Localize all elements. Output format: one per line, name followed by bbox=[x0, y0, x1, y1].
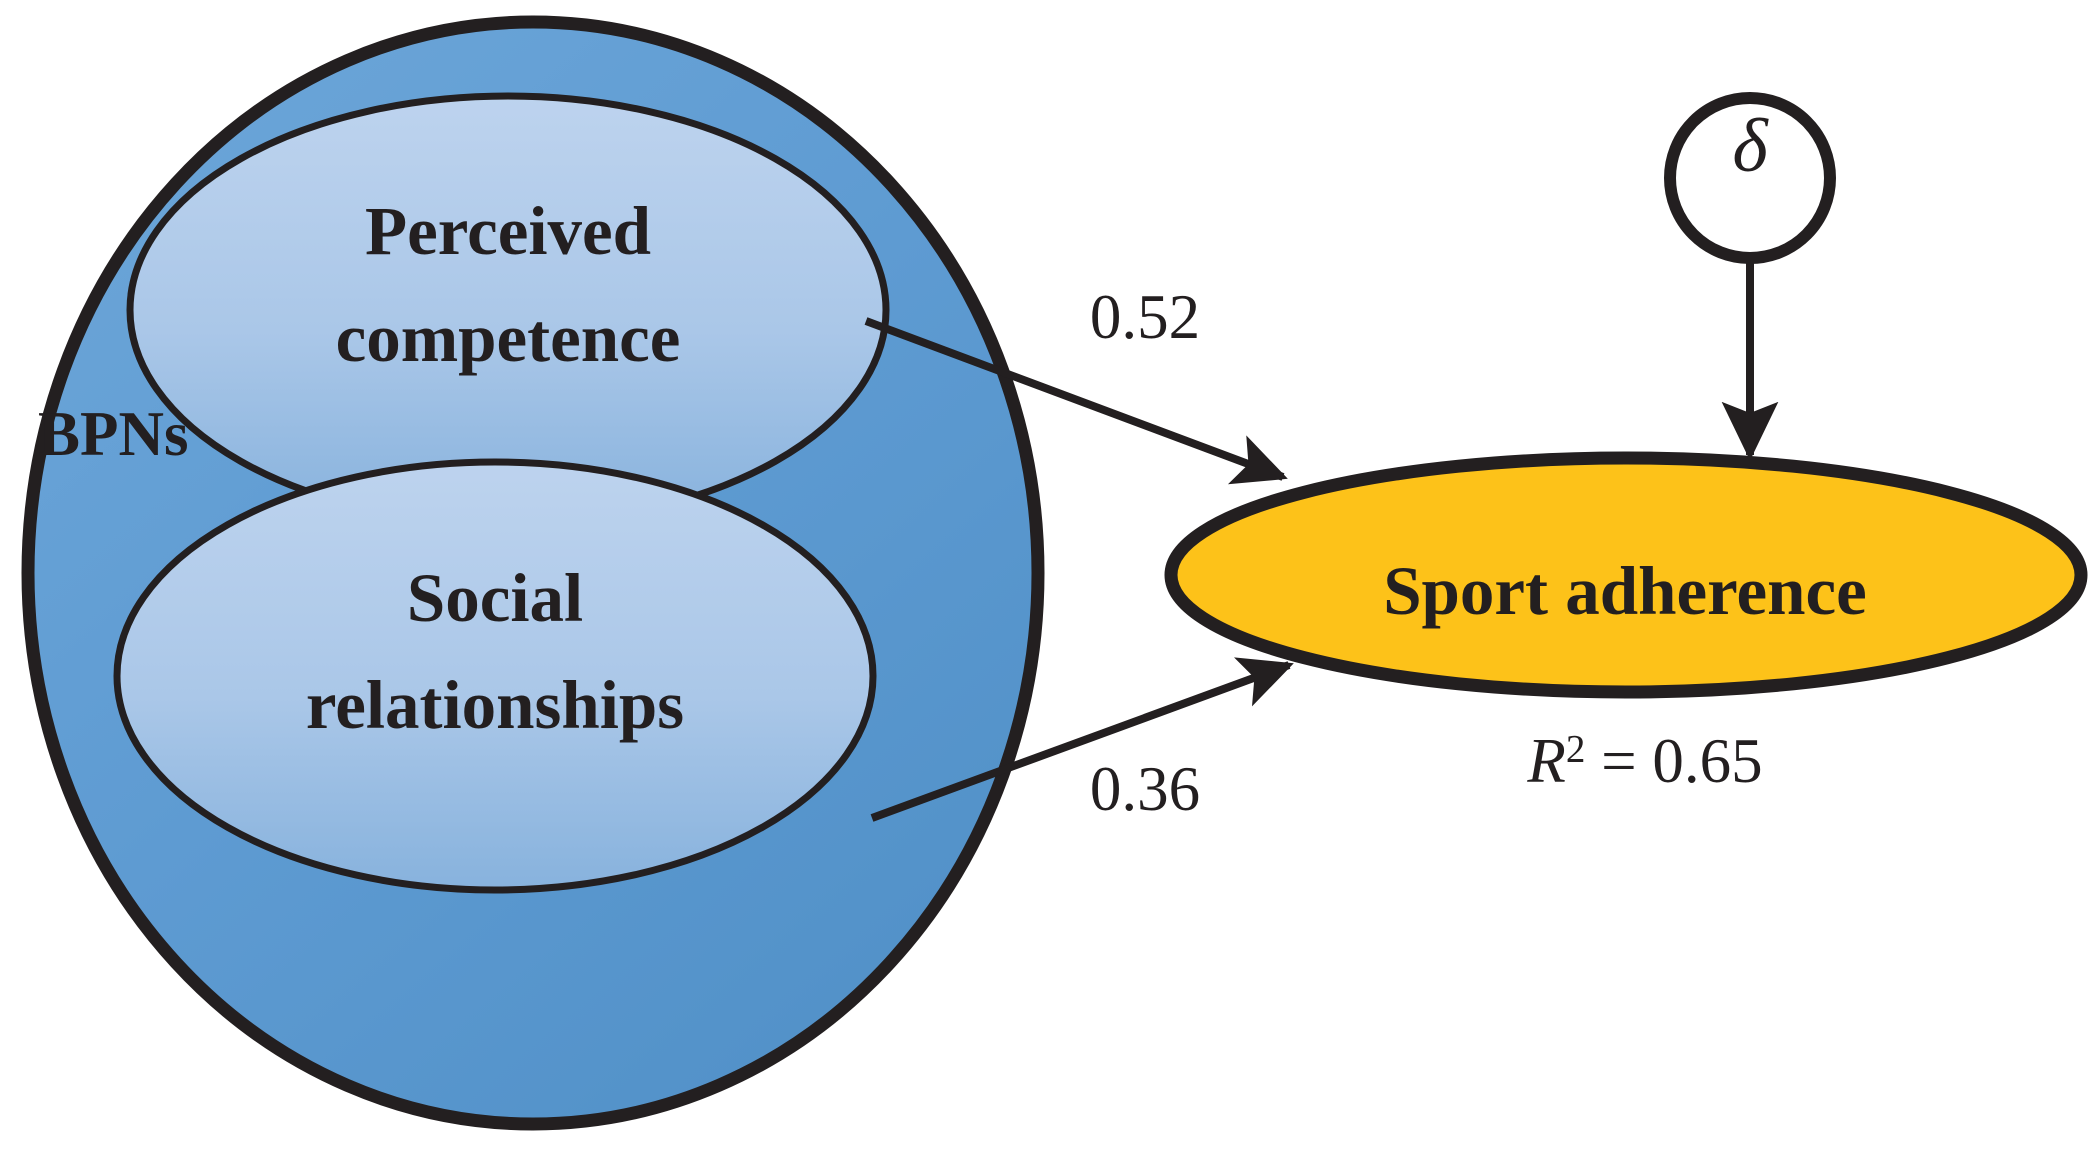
diagram-canvas: Perceived competence Social relationship… bbox=[0, 0, 2091, 1159]
coefficient-label-relationships: 0.36 bbox=[1050, 753, 1240, 826]
social-relationships-ellipse[interactable] bbox=[117, 462, 873, 890]
r-squared-value: 0.65 bbox=[1652, 726, 1762, 796]
r-squared-label: R2 = 0.65 bbox=[1430, 725, 1860, 798]
coefficient-label-competence: 0.52 bbox=[1050, 281, 1240, 354]
r-squared-symbol: R bbox=[1527, 726, 1565, 796]
r-squared-equals: = bbox=[1585, 726, 1652, 796]
sport-adherence-ellipse[interactable] bbox=[1171, 458, 2081, 692]
r-squared-exponent: 2 bbox=[1566, 728, 1586, 771]
residual-delta-label: δ bbox=[1690, 103, 1810, 190]
